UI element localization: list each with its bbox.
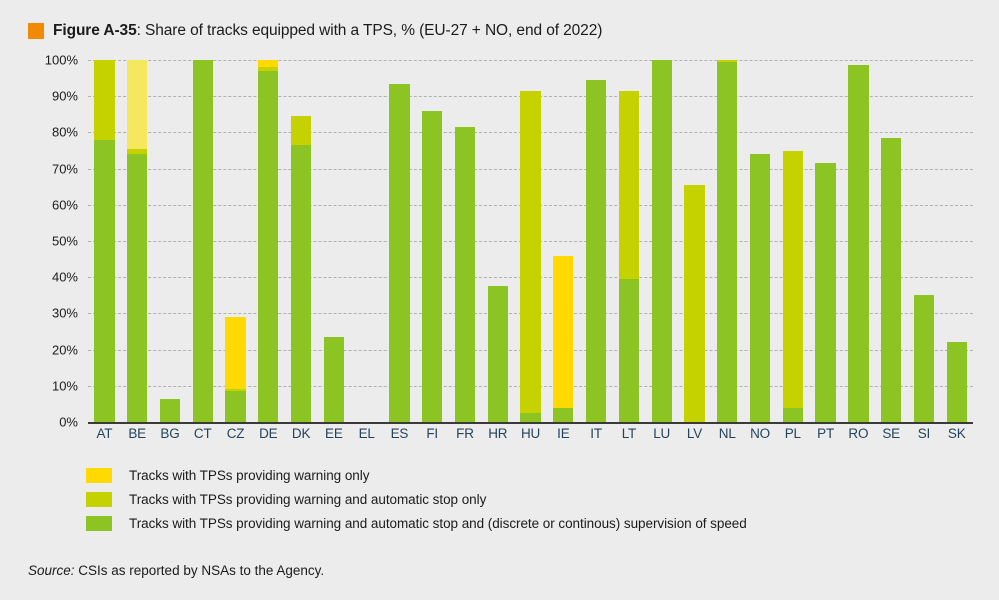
stacked-bar[interactable] — [848, 65, 868, 422]
bar-segment[interactable] — [783, 151, 803, 408]
x-axis-label-fi: FI — [416, 426, 449, 441]
y-axis-tick-label: 20% — [52, 342, 78, 357]
x-axis-label-es: ES — [383, 426, 416, 441]
y-axis-tick-label: 60% — [52, 197, 78, 212]
stacked-bar[interactable] — [947, 342, 967, 422]
bar-slot-cz[interactable] — [219, 60, 252, 422]
bar-segment[interactable] — [193, 60, 213, 422]
x-axis-label-hr: HR — [481, 426, 514, 441]
y-axis-tick-label: 30% — [52, 306, 78, 321]
x-axis-label-pl: PL — [776, 426, 809, 441]
bar-slot-ro[interactable] — [842, 60, 875, 422]
legend-label: Tracks with TPSs providing warning and a… — [129, 492, 486, 507]
stacked-bar[interactable] — [914, 295, 934, 422]
plot-area — [88, 60, 973, 422]
bar-segment[interactable] — [258, 60, 278, 67]
legend-label: Tracks with TPSs providing warning and a… — [129, 516, 747, 531]
stacked-bar[interactable] — [160, 399, 180, 422]
figure-container: Figure A-35: Share of tracks equipped wi… — [0, 0, 999, 600]
bar-segment[interactable] — [684, 185, 704, 422]
bar-segment[interactable] — [520, 91, 540, 413]
bar-slot-at[interactable] — [88, 60, 121, 422]
bar-segment[interactable] — [750, 154, 770, 422]
stacked-bar[interactable] — [553, 256, 573, 423]
x-axis-label-dk: DK — [285, 426, 318, 441]
bar-segment[interactable] — [160, 399, 180, 422]
y-axis-tick-label: 50% — [52, 234, 78, 249]
stacked-bar[interactable] — [815, 163, 835, 422]
stacked-bar[interactable] — [488, 286, 508, 422]
legend-swatch-icon — [86, 516, 112, 531]
legend-item[interactable]: Tracks with TPSs providing warning only — [86, 468, 747, 483]
x-axis-label-lt: LT — [613, 426, 646, 441]
bar-slot-lv[interactable] — [678, 60, 711, 422]
x-axis-label-se: SE — [875, 426, 908, 441]
legend-item[interactable]: Tracks with TPSs providing warning and a… — [86, 492, 747, 507]
bar-slot-de[interactable] — [252, 60, 285, 422]
bar-segment[interactable] — [127, 60, 147, 149]
stacked-bar[interactable] — [881, 138, 901, 422]
page-title: Figure A-35: Share of tracks equipped wi… — [53, 22, 602, 40]
legend-swatch-icon — [86, 468, 112, 483]
stacked-bar[interactable] — [193, 60, 213, 422]
figure-title-rest: : Share of tracks equipped with a TPS, %… — [137, 22, 603, 39]
bar-slot-es[interactable] — [383, 60, 416, 422]
bar-slot-el[interactable] — [350, 60, 383, 422]
bar-segment[interactable] — [947, 342, 967, 422]
source-prefix: Source: — [28, 563, 75, 578]
bar-slot-hr[interactable] — [481, 60, 514, 422]
y-axis: 0%10%20%30%40%50%60%70%80%90%100% — [28, 60, 84, 422]
bar-segment[interactable] — [619, 91, 639, 279]
bar-segment[interactable] — [815, 163, 835, 422]
x-axis-label-no: NO — [744, 426, 777, 441]
x-axis-label-pt: PT — [809, 426, 842, 441]
bar-slot-ct[interactable] — [186, 60, 219, 422]
bar-segment[interactable] — [389, 84, 409, 422]
stacked-bar[interactable] — [750, 154, 770, 422]
bar-segment[interactable] — [455, 127, 475, 422]
bar-slot-nl[interactable] — [711, 60, 744, 422]
bar-segment[interactable] — [127, 154, 147, 422]
bar-segment[interactable] — [94, 60, 114, 140]
bar-segment[interactable] — [914, 295, 934, 422]
stacked-bar[interactable] — [717, 60, 737, 422]
bar-slot-pl[interactable] — [776, 60, 809, 422]
bar-group — [88, 60, 973, 422]
stacked-bar[interactable] — [520, 91, 540, 422]
bar-slot-bg[interactable] — [154, 60, 187, 422]
figure-marker-icon — [28, 23, 44, 39]
chart-legend: Tracks with TPSs providing warning onlyT… — [86, 468, 747, 531]
x-axis-label-si: SI — [908, 426, 941, 441]
bar-segment[interactable] — [291, 145, 311, 422]
x-axis-label-sk: SK — [940, 426, 973, 441]
bar-segment[interactable] — [225, 317, 245, 389]
bar-segment[interactable] — [619, 279, 639, 422]
bar-slot-no[interactable] — [744, 60, 777, 422]
figure-title: Figure A-35: Share of tracks equipped wi… — [28, 22, 602, 40]
x-axis-label-fr: FR — [449, 426, 482, 441]
bar-slot-pt[interactable] — [809, 60, 842, 422]
bar-slot-lt[interactable] — [613, 60, 646, 422]
bar-segment[interactable] — [488, 286, 508, 422]
stacked-bar[interactable] — [586, 80, 606, 422]
bar-segment[interactable] — [520, 413, 540, 422]
bar-slot-ee[interactable] — [317, 60, 350, 422]
y-axis-tick-label: 100% — [45, 53, 78, 68]
x-axis-label-el: EL — [350, 426, 383, 441]
bar-segment[interactable] — [291, 116, 311, 145]
bar-segment[interactable] — [422, 111, 442, 422]
stacked-bar[interactable] — [291, 116, 311, 422]
y-axis-tick-label: 10% — [52, 378, 78, 393]
bar-segment[interactable] — [717, 62, 737, 422]
x-axis-label-hu: HU — [514, 426, 547, 441]
stacked-bar[interactable] — [127, 60, 147, 422]
x-axis-label-cz: CZ — [219, 426, 252, 441]
x-axis-label-nl: NL — [711, 426, 744, 441]
stacked-bar[interactable] — [422, 111, 442, 422]
stacked-bar[interactable] — [684, 185, 704, 422]
bar-slot-fi[interactable] — [416, 60, 449, 422]
chart-plot-wrapper: 0%10%20%30%40%50%60%70%80%90%100% ATBEBG… — [28, 60, 973, 435]
source-text: CSIs as reported by NSAs to the Agency. — [75, 563, 325, 578]
y-axis-tick-label: 40% — [52, 270, 78, 285]
bar-segment[interactable] — [848, 65, 868, 422]
source-note: Source: CSIs as reported by NSAs to the … — [28, 563, 324, 578]
y-axis-tick-label: 90% — [52, 89, 78, 104]
legend-item[interactable]: Tracks with TPSs providing warning and a… — [86, 516, 747, 531]
x-axis-label-ct: CT — [186, 426, 219, 441]
bar-slot-fr[interactable] — [449, 60, 482, 422]
x-axis-label-ie: IE — [547, 426, 580, 441]
bar-slot-si[interactable] — [908, 60, 941, 422]
x-axis-label-lv: LV — [678, 426, 711, 441]
x-axis-labels: ATBEBGCTCZDEDKEEELESFIFRHRHUIEITLTLULVNL… — [88, 426, 973, 441]
bar-segment[interactable] — [881, 138, 901, 422]
bar-segment[interactable] — [225, 391, 245, 422]
x-axis-label-be: BE — [121, 426, 154, 441]
bar-slot-it[interactable] — [580, 60, 613, 422]
stacked-bar[interactable] — [324, 337, 344, 422]
bar-slot-sk[interactable] — [940, 60, 973, 422]
y-axis-tick-label: 0% — [59, 415, 78, 430]
bar-segment[interactable] — [553, 408, 573, 422]
bar-slot-ie[interactable] — [547, 60, 580, 422]
stacked-bar[interactable] — [455, 127, 475, 422]
y-axis-tick-label: 80% — [52, 125, 78, 140]
bar-slot-se[interactable] — [875, 60, 908, 422]
x-axis-label-it: IT — [580, 426, 613, 441]
stacked-bar[interactable] — [652, 60, 672, 422]
x-axis-label-ro: RO — [842, 426, 875, 441]
legend-swatch-icon — [86, 492, 112, 507]
legend-label: Tracks with TPSs providing warning only — [129, 468, 369, 483]
x-axis-label-de: DE — [252, 426, 285, 441]
bar-slot-lu[interactable] — [645, 60, 678, 422]
bar-segment[interactable] — [652, 60, 672, 422]
x-axis-label-ee: EE — [317, 426, 350, 441]
figure-number: Figure A-35 — [53, 22, 137, 39]
x-axis-label-at: AT — [88, 426, 121, 441]
stacked-bar[interactable] — [258, 60, 278, 422]
stacked-bar[interactable] — [225, 317, 245, 422]
bar-slot-hu[interactable] — [514, 60, 547, 422]
stacked-bar[interactable] — [783, 151, 803, 422]
stacked-bar[interactable] — [389, 84, 409, 422]
y-axis-tick-label: 70% — [52, 161, 78, 176]
x-axis-label-bg: BG — [154, 426, 187, 441]
bar-segment[interactable] — [586, 80, 606, 422]
bar-segment[interactable] — [94, 140, 114, 422]
axis-baseline — [88, 422, 973, 424]
x-axis-label-lu: LU — [645, 426, 678, 441]
bar-segment[interactable] — [783, 408, 803, 422]
bar-slot-be[interactable] — [121, 60, 154, 422]
stacked-bar[interactable] — [619, 91, 639, 422]
stacked-bar[interactable] — [94, 60, 114, 422]
bar-segment[interactable] — [324, 337, 344, 422]
bar-segment[interactable] — [258, 71, 278, 422]
bar-slot-dk[interactable] — [285, 60, 318, 422]
bar-segment[interactable] — [553, 256, 573, 408]
